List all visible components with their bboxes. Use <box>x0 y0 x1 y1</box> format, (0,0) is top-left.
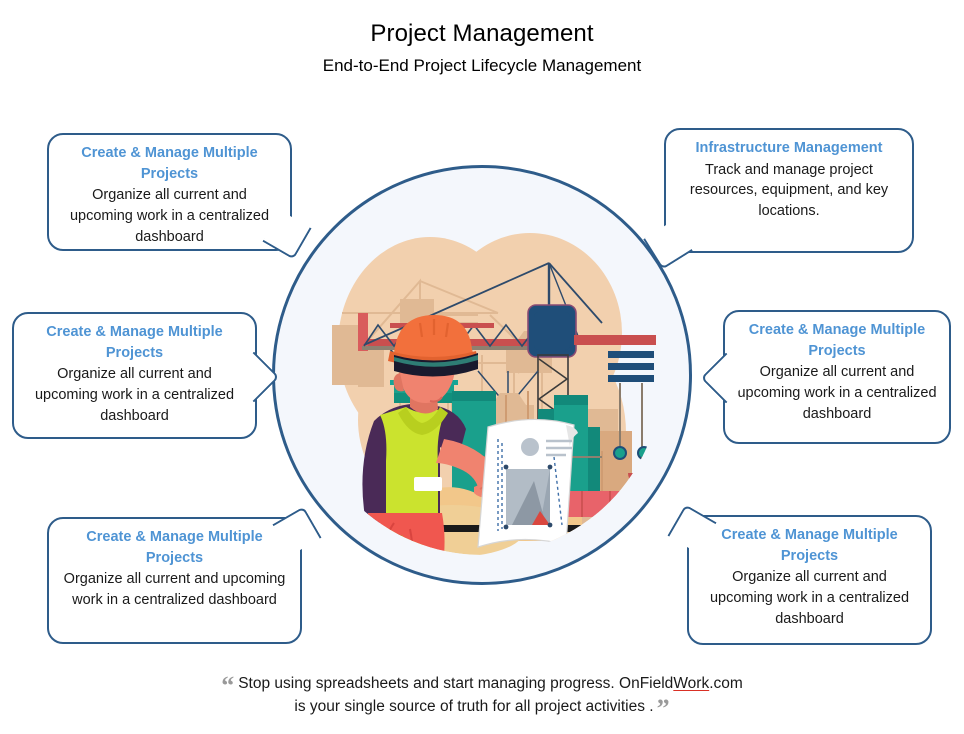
page-title: Project Management <box>0 20 964 48</box>
callout-title: Create & Manage Multiple Projects <box>699 525 920 566</box>
page-subtitle: End-to-End Project Lifecycle Management <box>0 56 964 76</box>
callout-bottom-left[interactable]: Create & Manage Multiple Projects Organi… <box>47 517 302 644</box>
callout-body: Organize all current and upcoming work i… <box>59 569 290 610</box>
quote-line-1: “Stop using spreadsheets and start manag… <box>120 672 844 695</box>
callout-top-left[interactable]: Create & Manage Multiple Projects Organi… <box>47 133 292 251</box>
callout-top-right[interactable]: Infrastructure Management Track and mana… <box>664 128 914 253</box>
quote-text-prefix: Stop using spreadsheets and start managi… <box>238 675 673 692</box>
construction-worker-illustration <box>302 195 662 555</box>
callout-body: Organize all current and upcoming work i… <box>59 185 280 247</box>
close-quote-icon: ” <box>657 694 670 723</box>
quote-text-misspelled-word: Work <box>673 675 709 692</box>
callout-body: Organize all current and upcoming work i… <box>735 362 939 424</box>
open-quote-icon: “ <box>221 671 234 700</box>
quote-text-suffix: .com <box>709 675 743 692</box>
callout-body: Track and manage project resources, equi… <box>676 160 902 222</box>
callout-title: Create & Manage Multiple Projects <box>24 322 245 363</box>
callout-title: Create & Manage Multiple Projects <box>59 527 290 568</box>
callout-body: Organize all current and upcoming work i… <box>24 364 245 426</box>
callout-title: Create & Manage Multiple Projects <box>59 143 280 184</box>
callout-title: Infrastructure Management <box>676 138 902 159</box>
callout-middle-left[interactable]: Create & Manage Multiple Projects Organi… <box>12 312 257 439</box>
callout-title: Create & Manage Multiple Projects <box>735 320 939 361</box>
slide-canvas: Project Management End-to-End Project Li… <box>0 0 964 734</box>
center-illustration-circle <box>272 165 692 585</box>
callout-bottom-right[interactable]: Create & Manage Multiple Projects Organi… <box>687 515 932 645</box>
footer-quote: “Stop using spreadsheets and start manag… <box>120 672 844 719</box>
quote-text-line2: is your single source of truth for all p… <box>294 698 653 715</box>
callout-body: Organize all current and upcoming work i… <box>699 567 920 629</box>
callout-middle-right[interactable]: Create & Manage Multiple Projects Organi… <box>723 310 951 444</box>
